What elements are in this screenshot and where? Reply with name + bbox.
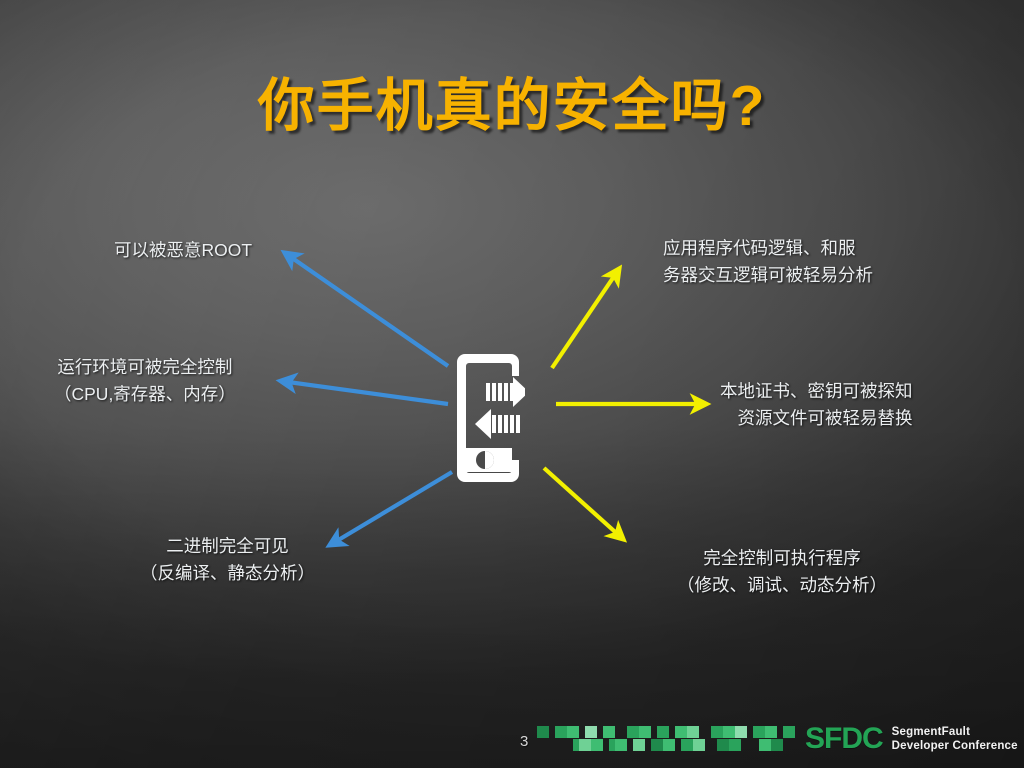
pixel-square bbox=[567, 726, 579, 738]
callout-line: 完全控制可执行程序 bbox=[677, 545, 887, 572]
callout-line: （CPU,寄存器、内存） bbox=[54, 381, 236, 408]
pixel-square bbox=[615, 739, 627, 751]
callout-line: 运行环境可被完全控制 bbox=[54, 354, 236, 381]
page-number: 3 bbox=[520, 733, 528, 750]
pixel-square bbox=[585, 726, 597, 738]
pixel-square bbox=[759, 739, 771, 751]
pixel-square bbox=[717, 739, 729, 751]
sfdc-tagline-line2: Developer Conference bbox=[892, 739, 1018, 753]
sfdc-tagline-line1: SegmentFault bbox=[892, 725, 1018, 739]
pixel-square bbox=[771, 739, 783, 751]
pixel-square bbox=[633, 739, 645, 751]
smartphone-data-exchange-icon bbox=[455, 352, 525, 484]
pixel-square bbox=[555, 726, 567, 738]
pixel-square bbox=[651, 739, 663, 751]
arrow-to-runtime-control bbox=[281, 381, 448, 404]
pixel-square bbox=[693, 739, 705, 751]
pixel-mosaic-decoration bbox=[537, 724, 789, 754]
pixel-square bbox=[537, 726, 549, 738]
pixel-square bbox=[729, 739, 741, 751]
callout-line: （修改、调试、动态分析） bbox=[677, 572, 887, 599]
footer-logo: SFDC SegmentFault Developer Conference bbox=[537, 718, 1018, 760]
pixel-square bbox=[723, 726, 735, 738]
callout-line: 资源文件可被轻易替换 bbox=[720, 405, 913, 432]
pixel-square bbox=[639, 726, 651, 738]
pixel-square bbox=[627, 726, 639, 738]
callout-line: （反编译、静态分析） bbox=[140, 560, 315, 587]
pixel-square bbox=[663, 739, 675, 751]
arrow-to-app-logic bbox=[552, 269, 619, 368]
callout-label-runtime-control: 运行环境可被完全控制 （CPU,寄存器、内存） bbox=[54, 354, 236, 408]
pixel-square bbox=[783, 726, 795, 738]
pixel-square bbox=[765, 726, 777, 738]
pixel-square bbox=[687, 726, 699, 738]
pixel-square bbox=[591, 739, 603, 751]
callout-line: 务器交互逻辑可被轻易分析 bbox=[663, 262, 873, 289]
callout-label-cert-key: 本地证书、密钥可被探知 资源文件可被轻易替换 bbox=[720, 378, 913, 432]
pixel-square bbox=[711, 726, 723, 738]
callout-label-binary-visible: 二进制完全可见 （反编译、静态分析） bbox=[140, 533, 315, 587]
sfdc-tagline: SegmentFault Developer Conference bbox=[892, 725, 1018, 753]
callout-label-malicious-root: 可以被恶意ROOT bbox=[114, 237, 252, 264]
callout-label-exec-control: 完全控制可执行程序 （修改、调试、动态分析） bbox=[677, 545, 887, 599]
arrow-to-binary-visible bbox=[330, 472, 452, 545]
presentation-slide: 你手机真的安全吗? bbox=[0, 0, 1024, 768]
callout-label-app-logic: 应用程序代码逻辑、和服 务器交互逻辑可被轻易分析 bbox=[663, 235, 873, 289]
pixel-square bbox=[657, 726, 669, 738]
callout-line: 应用程序代码逻辑、和服 bbox=[663, 235, 873, 262]
sfdc-logo: SFDC SegmentFault Developer Conference bbox=[805, 722, 1018, 756]
pixel-square bbox=[681, 739, 693, 751]
arrow-to-malicious-root bbox=[285, 253, 448, 366]
pixel-square bbox=[753, 726, 765, 738]
sfdc-wordmark: SFDC bbox=[805, 722, 883, 756]
arrow-to-exec-control bbox=[544, 468, 623, 539]
pixel-square bbox=[579, 739, 591, 751]
pixel-square bbox=[675, 726, 687, 738]
callout-line: 本地证书、密钥可被探知 bbox=[720, 378, 913, 405]
callout-line: 可以被恶意ROOT bbox=[114, 237, 252, 264]
callout-line: 二进制完全可见 bbox=[140, 533, 315, 560]
pixel-square bbox=[603, 726, 615, 738]
pixel-square bbox=[735, 726, 747, 738]
